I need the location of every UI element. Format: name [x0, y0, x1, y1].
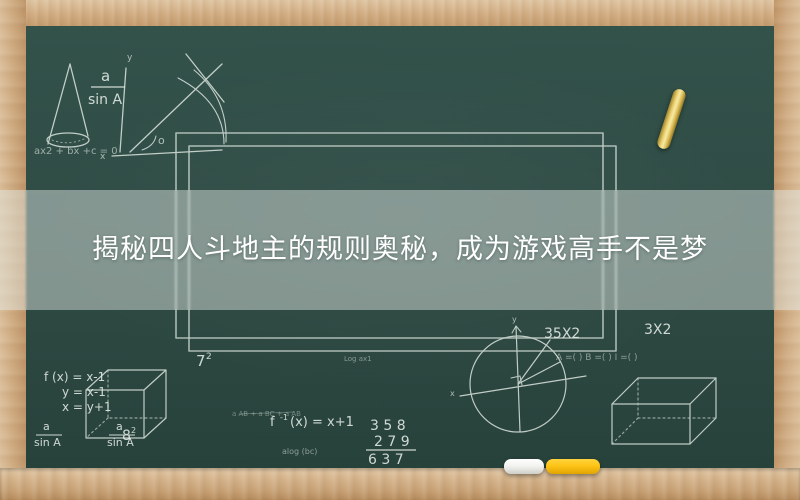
svg-text:2 7 9: 2 7 9 — [374, 434, 410, 450]
svg-text:2: 2 — [206, 352, 212, 362]
inverse-function-text: f — [270, 415, 275, 430]
subtraction-column: 3 5 8 2 7 9 6 3 7 — [366, 418, 416, 468]
label-35x2: 35X2 — [544, 326, 580, 342]
axis-label-x-top: x — [100, 152, 106, 162]
cube-right-drawing — [612, 378, 716, 444]
inverse-function-rest: (x) = x+1 — [290, 415, 354, 430]
fraction-a-over-sinA-bottom-center: a sin A — [107, 420, 135, 449]
svg-text:a: a — [101, 67, 110, 85]
svg-text:x = y+1: x = y+1 — [62, 400, 112, 414]
svg-text:sin A: sin A — [107, 436, 134, 449]
tray-chalk-white — [504, 459, 544, 474]
faint-ab-bc-expression: a AB + a BC + a AB — [232, 410, 301, 418]
cube-left-drawing — [86, 370, 166, 438]
circle-axes-drawing — [460, 326, 586, 432]
alog-bc-text: alog (bc) — [282, 447, 317, 456]
svg-text:7: 7 — [196, 352, 206, 370]
axis-label-x-circle: x — [450, 389, 455, 398]
svg-text:f (x) = x-1: f (x) = x-1 — [44, 370, 105, 384]
fraction-a-over-sinA-bottom-left: a sin A — [34, 420, 62, 449]
svg-text:3 5 8: 3 5 8 — [370, 418, 406, 434]
quadratic-equation: ax2 + bx +c = 0 — [34, 146, 118, 157]
frame-top-rail — [0, 0, 800, 26]
inverse-function-exponent: -1 — [280, 413, 288, 422]
cone-drawing — [47, 64, 89, 147]
chalk-tray — [0, 468, 800, 500]
eight-squared: 8 2 — [122, 426, 136, 444]
svg-text:y = x-1: y = x-1 — [62, 385, 106, 399]
label-3x2: 3X2 — [644, 322, 671, 338]
fraction-a-over-sinA-top: a sin A — [88, 67, 125, 108]
page-title: 揭秘四人斗地主的规则奥秘，成为游戏高手不是梦 — [92, 234, 708, 266]
svg-text:6 3 7: 6 3 7 — [368, 452, 404, 468]
floating-chalk-stick — [656, 88, 688, 151]
chalkboard-banner: a sin A y x o ax2 + bx +c = 0 f (x) = x-… — [0, 0, 800, 500]
svg-text:a: a — [43, 420, 50, 433]
axis-label-y-top: y — [127, 53, 133, 63]
svg-text:sin A: sin A — [34, 436, 61, 449]
angle-label-o-top: o — [158, 134, 165, 147]
faint-expression-marks — [240, 412, 294, 414]
function-system-text: f (x) = x-1 y = x-1 x = y+1 — [44, 370, 112, 414]
tray-chalk-yellow — [546, 459, 600, 474]
svg-text:sin A: sin A — [88, 92, 123, 108]
svg-text:a: a — [116, 420, 123, 433]
svg-text:8: 8 — [122, 428, 131, 444]
log-ax1-text: Log ax1 — [344, 355, 372, 363]
seven-squared: 7 2 — [196, 352, 212, 370]
matrix-row-text: A =( ) B =( ) I =( ) — [556, 353, 638, 363]
svg-text:2: 2 — [131, 426, 136, 435]
angle-axes-drawing — [112, 54, 226, 156]
axis-label-y-circle: y — [512, 315, 517, 324]
caption-band: 揭秘四人斗地主的规则奥秘，成为游戏高手不是梦 — [0, 190, 800, 310]
